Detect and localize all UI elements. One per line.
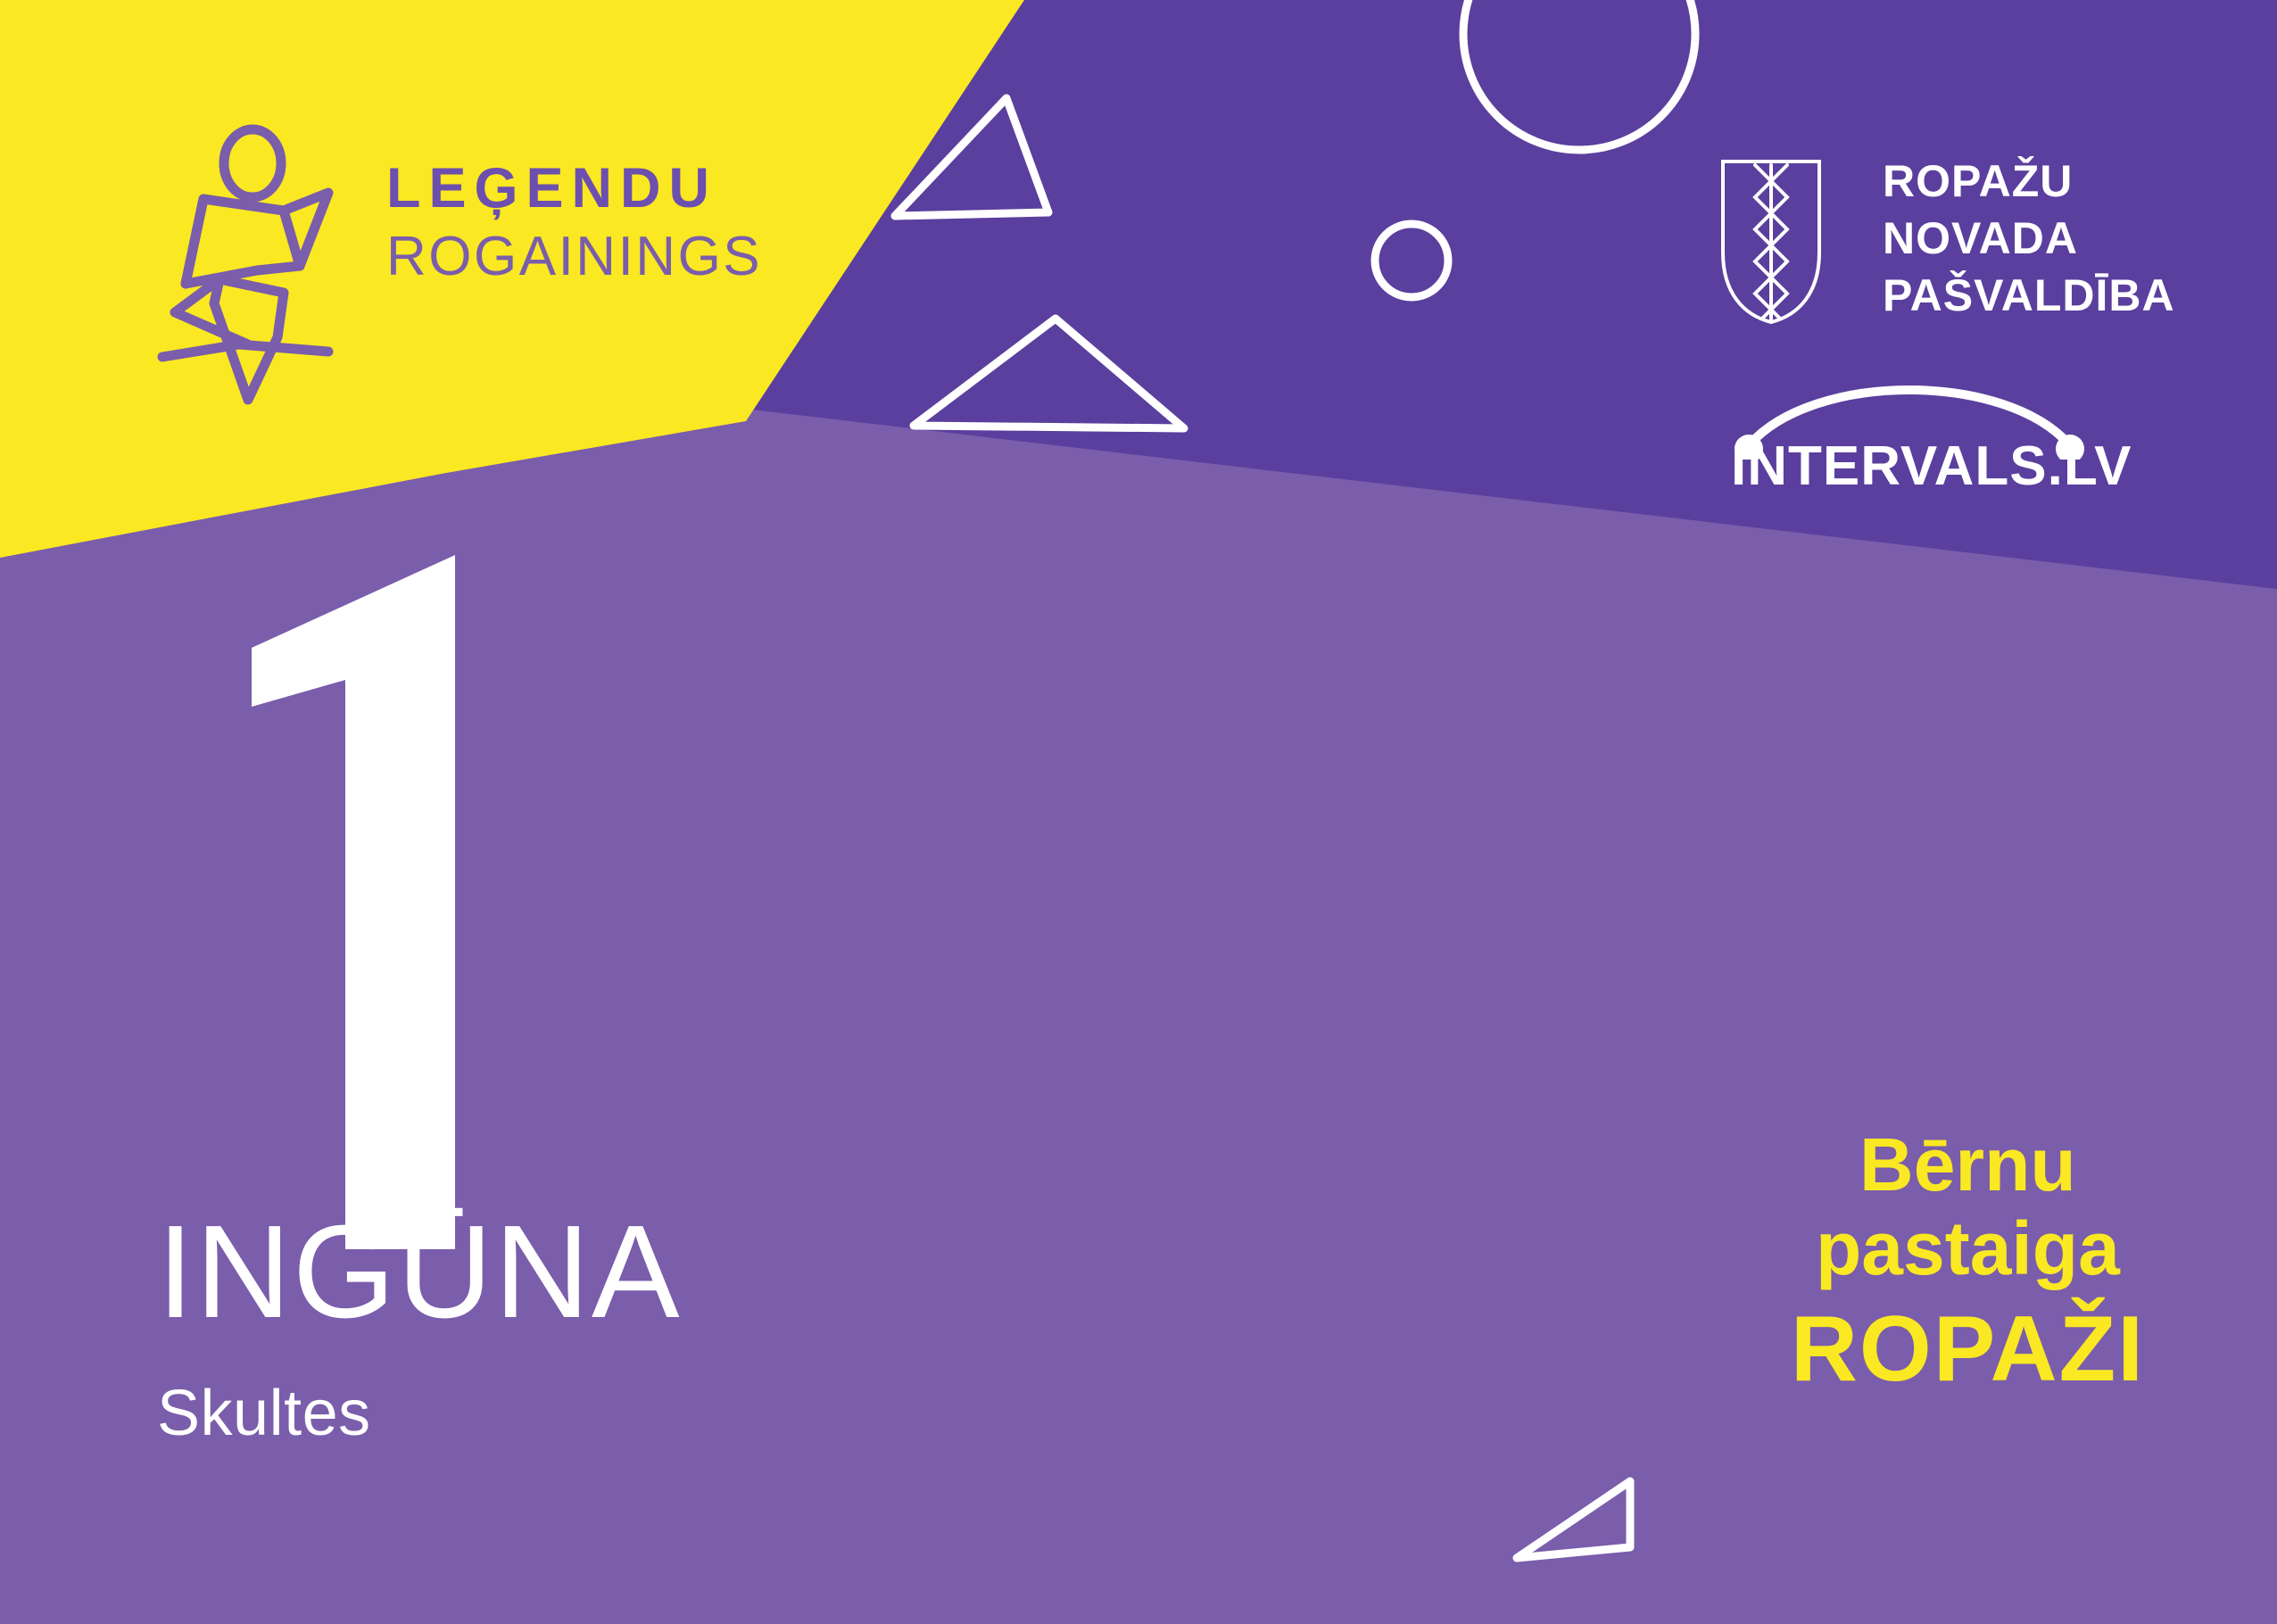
municipality-line-1: ROPAŽU bbox=[1883, 153, 2175, 210]
municipality-line-3: PAŠVALDĪBA bbox=[1883, 267, 2175, 324]
event-line-2: pastaiga bbox=[1791, 1206, 2145, 1290]
municipality-wordmark: ROPAŽU NOVADA PAŠVALDĪBA bbox=[1883, 153, 2175, 324]
control-subname: Skultes bbox=[157, 1381, 371, 1446]
control-name: INGŪNA bbox=[157, 1206, 682, 1338]
municipality-line-2: NOVADA bbox=[1883, 210, 2175, 267]
ropazi-shield-crest-icon bbox=[1718, 156, 1825, 326]
event-block: Bērnu pastaiga ROPAŽI bbox=[1791, 1123, 2145, 1404]
sponsor-logo: INTERVALS.LV bbox=[1731, 379, 2195, 522]
poster-canvas: LEĢENDU ROGAININGS ROPAŽU NOVADA PAŠVALD… bbox=[0, 0, 2277, 1624]
municipality-logo: ROPAŽU NOVADA PAŠVALDĪBA bbox=[1718, 156, 2235, 335]
brand-wordmark: LEĢENDU ROGAININGS bbox=[386, 161, 761, 287]
event-line-1: Bērnu bbox=[1791, 1123, 2145, 1206]
running-figure-icon bbox=[150, 114, 355, 409]
sponsor-name: INTERVALS.LV bbox=[1731, 435, 2132, 498]
event-line-3: ROPAŽI bbox=[1791, 1296, 2145, 1404]
control-number bbox=[207, 535, 582, 1267]
brand-logo: LEĢENDU ROGAININGS bbox=[150, 114, 774, 409]
brand-line-2: ROGAININGS bbox=[386, 226, 761, 287]
brand-line-1: LEĢENDU bbox=[386, 161, 761, 217]
